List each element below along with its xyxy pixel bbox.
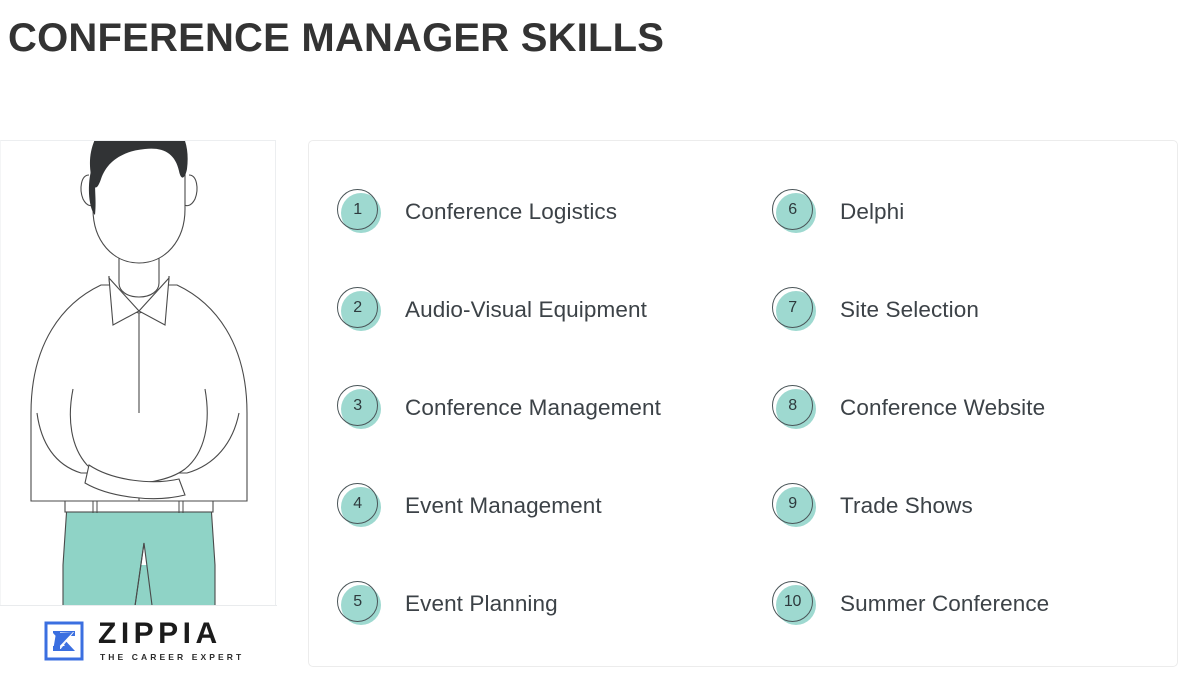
badge-number: 9 (772, 483, 813, 524)
skill-item-3[interactable]: 3 Conference Management (337, 385, 661, 431)
zippia-name: ZIPPIA (98, 619, 244, 649)
skills-column-right: 6 Delphi 7 Site Selection (742, 141, 1177, 666)
skills-column-left: 1 Conference Logistics 2 Audio-Visual Eq… (309, 141, 742, 666)
zippia-logo: ZIPPIA THE CAREER EXPERT (0, 605, 277, 675)
skill-label: Trade Shows (840, 493, 973, 519)
skill-label: Summer Conference (840, 591, 1049, 617)
skill-label: Conference Management (405, 395, 661, 421)
badge-number: 8 (772, 385, 813, 426)
skill-label: Audio-Visual Equipment (405, 297, 647, 323)
skill-label: Delphi (840, 199, 904, 225)
skill-number-badge: 6 (772, 189, 818, 235)
badge-number: 3 (337, 385, 378, 426)
skill-item-1[interactable]: 1 Conference Logistics (337, 189, 617, 235)
skill-label: Event Management (405, 493, 602, 519)
skill-item-9[interactable]: 9 Trade Shows (772, 483, 973, 529)
page-title: CONFERENCE MANAGER SKILLS (8, 14, 664, 62)
skill-item-8[interactable]: 8 Conference Website (772, 385, 1045, 431)
skill-number-badge: 8 (772, 385, 818, 431)
skill-number-badge: 5 (337, 581, 383, 627)
skill-item-2[interactable]: 2 Audio-Visual Equipment (337, 287, 647, 333)
skill-label: Conference Logistics (405, 199, 617, 225)
badge-number: 1 (337, 189, 378, 230)
skill-item-5[interactable]: 5 Event Planning (337, 581, 558, 627)
skill-number-badge: 4 (337, 483, 383, 529)
skill-number-badge: 1 (337, 189, 383, 235)
badge-number: 6 (772, 189, 813, 230)
skill-item-7[interactable]: 7 Site Selection (772, 287, 979, 333)
badge-number: 5 (337, 581, 378, 622)
skill-label: Event Planning (405, 591, 558, 617)
illustration-panel (0, 140, 276, 675)
badge-number: 7 (772, 287, 813, 328)
zippia-logo-icon (44, 621, 84, 661)
badge-number: 10 (772, 581, 813, 622)
skill-item-4[interactable]: 4 Event Management (337, 483, 602, 529)
infographic-page: CONFERENCE MANAGER SKILLS (0, 0, 1200, 675)
badge-number: 4 (337, 483, 378, 524)
skill-number-badge: 3 (337, 385, 383, 431)
skill-label: Conference Website (840, 395, 1045, 421)
skill-label: Site Selection (840, 297, 979, 323)
person-illustration (1, 140, 276, 613)
badge-number: 2 (337, 287, 378, 328)
zippia-tagline: THE CAREER EXPERT (98, 651, 244, 663)
skill-number-badge: 7 (772, 287, 818, 333)
skill-number-badge: 9 (772, 483, 818, 529)
skills-card: 1 Conference Logistics 2 Audio-Visual Eq… (308, 140, 1178, 667)
skill-item-6[interactable]: 6 Delphi (772, 189, 904, 235)
zippia-wordmark: ZIPPIA THE CAREER EXPERT (98, 619, 244, 663)
skill-number-badge: 2 (337, 287, 383, 333)
skill-number-badge: 10 (772, 581, 818, 627)
skill-item-10[interactable]: 10 Summer Conference (772, 581, 1049, 627)
